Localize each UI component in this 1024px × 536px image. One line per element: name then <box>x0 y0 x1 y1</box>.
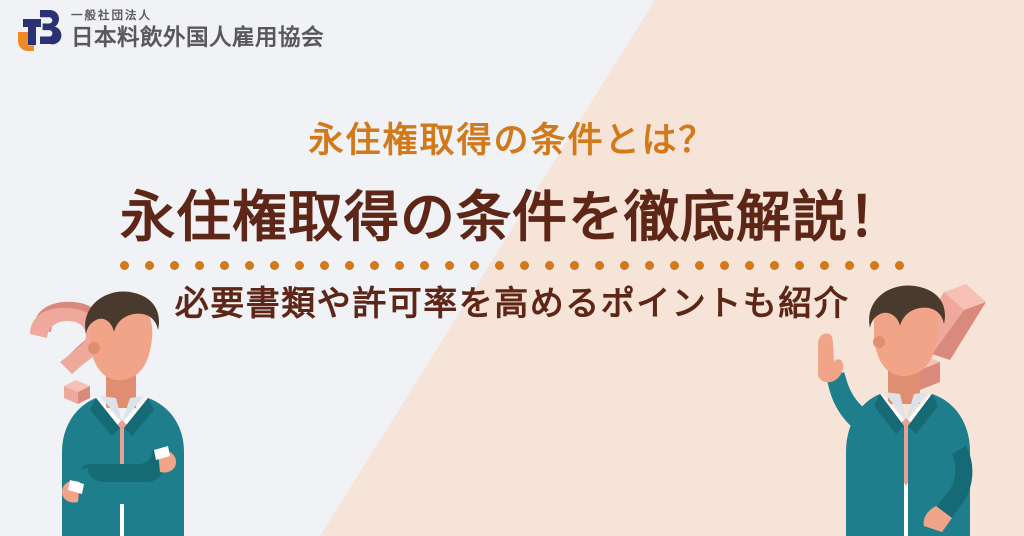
illustration-man-arms-crossed <box>18 286 228 536</box>
illustration-man-pointing-up <box>784 274 1014 536</box>
site-logo[interactable]: 一般社団法人 日本料飲外国人雇用協会 <box>12 6 324 54</box>
organization-type-label: 一般社団法人 <box>71 11 324 23</box>
logo-text-block: 一般社団法人 日本料飲外国人雇用協会 <box>71 11 324 49</box>
jb-monogram-icon <box>12 6 62 54</box>
organization-name-label: 日本料飲外国人雇用協会 <box>71 27 324 50</box>
banner-root: 一般社団法人 日本料飲外国人雇用協会 永住権取得の条件とは？ 永住権取得の条件を… <box>0 0 1024 536</box>
